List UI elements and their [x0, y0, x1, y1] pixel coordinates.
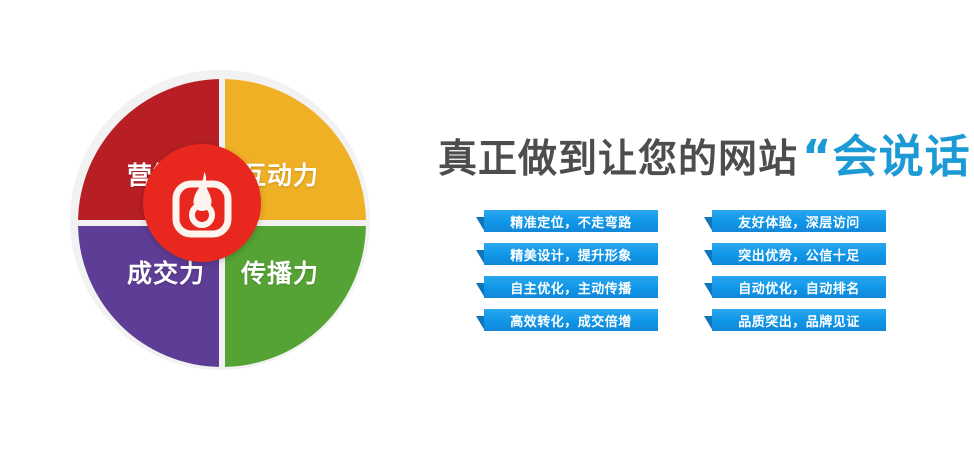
feature-tag-body: 高效转化，成交倍增	[484, 309, 658, 331]
feature-tag-column-right: 友好体验，深层访问 突出优势，公信十足 自动优化，自动排名 品质突出，品牌见证	[704, 210, 886, 331]
wheel-quadrant-spread[interactable]: 传播力	[225, 226, 366, 367]
feature-tag-body: 自主优化，主动传播	[484, 276, 658, 298]
feature-tag-label: 自动优化，自动排名	[738, 278, 860, 297]
feature-tag[interactable]: 高效转化，成交倍增	[476, 309, 658, 331]
feature-tag-label: 精准定位，不走弯路	[510, 212, 632, 231]
feature-tag[interactable]: 精准定位，不走弯路	[476, 210, 658, 232]
feature-tag[interactable]: 自动优化，自动排名	[704, 276, 886, 298]
feature-tag-column-left: 精准定位，不走弯路 精美设计，提升形象 自主优化，主动传播 高效转化，成交倍增	[476, 210, 658, 331]
headline: 真正做到让您的网站 “会说话”	[438, 120, 974, 182]
feature-tag-body: 友好体验，深层访问	[712, 210, 886, 232]
headline-accent-text: “会说话”	[802, 120, 974, 185]
feature-tag-label: 友好体验，深层访问	[738, 212, 860, 231]
feature-tag-body: 自动优化，自动排名	[712, 276, 886, 298]
feature-tag-label: 精美设计，提升形象	[510, 245, 632, 264]
wheel-quadrant-spread-label: 传播力	[241, 254, 319, 290]
feature-tag-body: 品质突出，品牌见证	[712, 309, 886, 331]
feature-tag[interactable]: 品质突出，品牌见证	[704, 309, 886, 331]
headline-lead-text: 真正做到让您的网站	[438, 128, 798, 184]
feature-tag[interactable]: 精美设计，提升形象	[476, 243, 658, 265]
feature-tag-label: 突出优势，公信十足	[738, 245, 860, 264]
feature-tag-body: 精美设计，提升形象	[484, 243, 658, 265]
feature-tag[interactable]: 突出优势，公信十足	[704, 243, 886, 265]
feature-tag-body: 突出优势，公信十足	[712, 243, 886, 265]
feature-tag-grid: 精准定位，不走弯路 精美设计，提升形象 自主优化，主动传播 高效转化，成交倍增	[476, 210, 886, 331]
flame-logo-icon	[170, 168, 234, 238]
wheel-center-hub[interactable]	[143, 144, 261, 262]
capability-wheel: 营销力 互动力 成交力 传播力	[62, 62, 382, 388]
feature-tag-label: 自主优化，主动传播	[510, 278, 632, 297]
feature-tag[interactable]: 友好体验，深层访问	[704, 210, 886, 232]
feature-tag-label: 高效转化，成交倍增	[510, 311, 632, 330]
feature-tag-body: 精准定位，不走弯路	[484, 210, 658, 232]
feature-tag[interactable]: 自主优化，主动传播	[476, 276, 658, 298]
feature-tag-label: 品质突出，品牌见证	[738, 311, 860, 330]
